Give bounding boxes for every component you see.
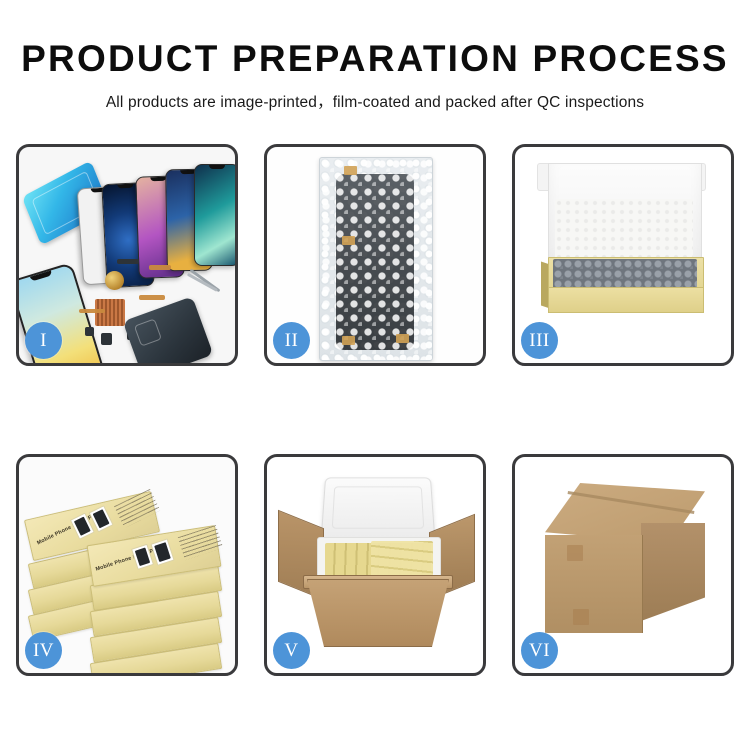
step-badge-3: III [521,322,558,359]
phone-notch-icon [30,270,53,281]
carton-front-face [545,535,643,633]
page-subtitle: All products are image-printed，film-coat… [0,90,750,112]
screen-thumbnail [74,517,91,536]
carton-tape-patch [567,545,583,561]
tape-piece-icon [342,236,355,245]
step-badge-4: IV [25,632,62,669]
carton-tape-patch [573,609,589,625]
box-spec-text-block [114,489,160,528]
step-badge-5: V [273,632,310,669]
screen-thumbnail [93,509,110,528]
yellow-box-front [548,287,704,313]
tape-piece-icon [396,334,409,343]
phone-notch-icon [150,177,166,182]
phone-back-housing-icon [123,296,214,363]
process-step-panel-5[interactable]: V [264,454,486,676]
step-badge-1: I [25,322,62,359]
phone-lineup-group [74,161,235,291]
phone-teal-wallpaper [194,164,235,266]
wireless-charging-coil-icon [105,271,124,290]
process-step-panel-2[interactable]: II [264,144,486,366]
process-step-grid: I II [16,144,734,676]
tape-piece-icon [344,166,357,175]
flex-cable-icon [139,295,165,300]
screen-thumbnail [154,542,171,562]
carton-body-open [307,579,449,647]
flex-cable-icon [79,309,105,313]
step-badge-2: II [273,322,310,359]
foam-box-lid [321,477,436,539]
bubble-wrap-pouch [319,157,433,361]
flex-cable-icon [149,265,171,270]
foam-sheet [555,199,693,261]
process-step-panel-4[interactable]: Mobile Phone Spare Parts Mobile Phone Sp… [16,454,238,676]
process-step-panel-3[interactable]: III [512,144,734,366]
phone-notch-icon [117,184,133,189]
process-step-panel-6[interactable]: VI [512,454,734,676]
tape-piece-icon [342,336,355,345]
box-window-cutout [150,538,174,565]
small-part-icon [85,327,94,336]
infographic-page: PRODUCT PREPARATION PROCESS All products… [0,0,750,750]
speaker-part-icon [117,259,139,264]
box-spec-text-block [178,525,223,560]
bubble-wrapped-contents [553,259,697,289]
header: PRODUCT PREPARATION PROCESS All products… [0,0,750,112]
phone-notch-icon [209,165,225,169]
page-title: PRODUCT PREPARATION PROCESS [0,40,750,79]
camera-part-icon [101,333,112,345]
wrapped-lcd-screen [336,174,414,350]
carton-side-face [641,523,705,621]
screen-thumbnail [135,548,150,567]
process-step-panel-1[interactable]: I [16,144,238,366]
step-badge-6: VI [521,632,558,669]
